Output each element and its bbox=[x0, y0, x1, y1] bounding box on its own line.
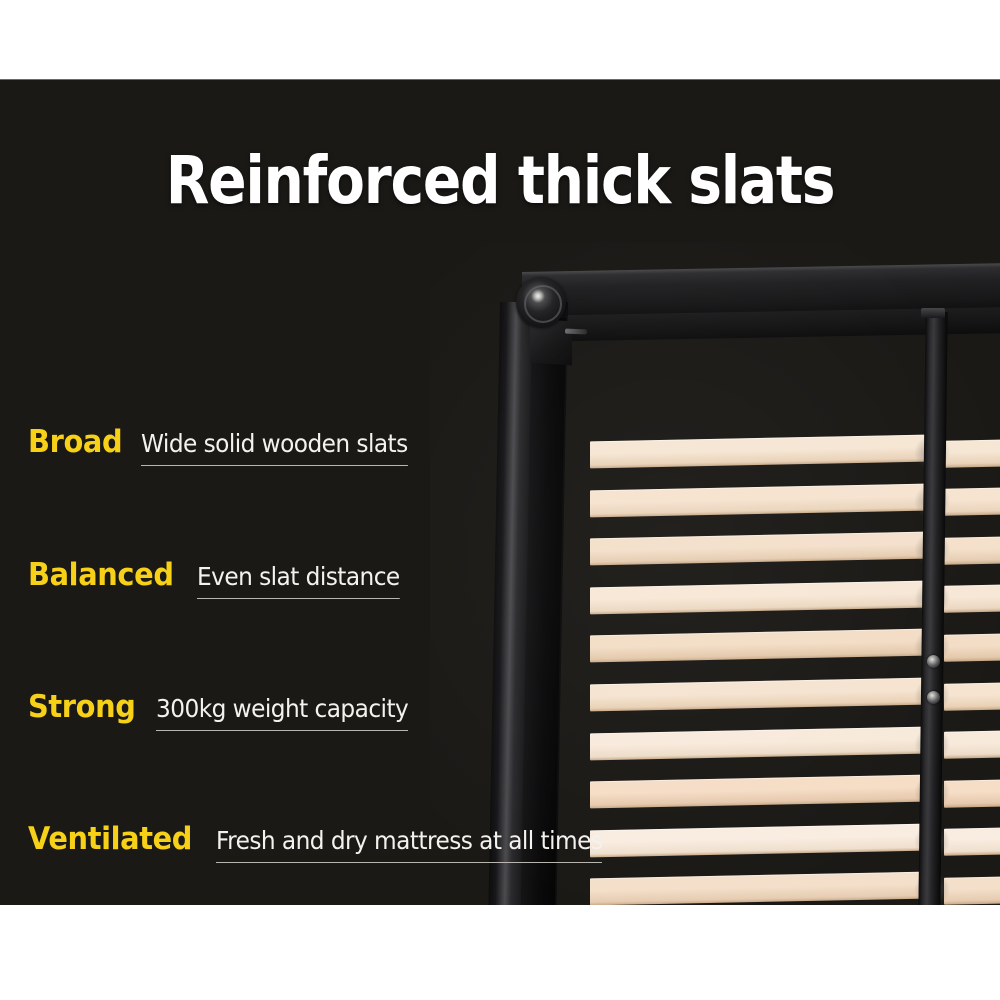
wooden-slat bbox=[590, 532, 926, 566]
beam-screw-lower bbox=[927, 691, 940, 704]
feature-key-ventilated: Ventilated bbox=[28, 821, 192, 857]
wooden-slat bbox=[590, 435, 926, 469]
wooden-slat bbox=[944, 876, 1000, 904]
page-title: Reinforced thick slats bbox=[70, 142, 930, 219]
feature-key-balanced: Balanced bbox=[28, 557, 174, 593]
feature-value-ventilated: Fresh and dry mattress at all times bbox=[216, 826, 602, 863]
feature-row-broad: Broad Wide solid wooden slats bbox=[28, 424, 428, 466]
corner-pin bbox=[565, 329, 587, 335]
wooden-slat bbox=[944, 536, 1000, 564]
wooden-slat bbox=[590, 678, 926, 712]
feature-key-broad: Broad bbox=[28, 424, 122, 460]
wooden-slat bbox=[590, 580, 926, 614]
wooden-slat bbox=[944, 828, 1000, 856]
product-feature-banner: Reinforced thick slats Broad Wide solid … bbox=[0, 0, 1000, 1000]
feature-value-strong: 300kg weight capacity bbox=[156, 694, 408, 731]
wooden-slat bbox=[944, 585, 1000, 613]
feature-row-balanced: Balanced Even slat distance bbox=[28, 557, 415, 599]
corner-bolt-ring bbox=[524, 285, 562, 323]
center-beam-cap bbox=[921, 308, 945, 318]
wooden-slat bbox=[944, 682, 1000, 710]
wooden-slat bbox=[944, 487, 1000, 515]
wooden-slat bbox=[944, 779, 1000, 807]
center-support-beam bbox=[918, 312, 947, 905]
beam-screw-upper bbox=[927, 655, 940, 668]
wooden-slat bbox=[944, 633, 1000, 661]
panel-top-edge bbox=[0, 79, 1000, 80]
wooden-slat bbox=[590, 823, 926, 857]
wooden-slat bbox=[590, 775, 926, 809]
dark-content-panel: Reinforced thick slats Broad Wide solid … bbox=[0, 80, 1000, 905]
wooden-slat bbox=[590, 872, 926, 905]
wooden-slat bbox=[590, 629, 926, 663]
feature-row-strong: Strong 300kg weight capacity bbox=[28, 689, 427, 731]
wooden-slat bbox=[590, 726, 926, 760]
feature-key-strong: Strong bbox=[28, 689, 136, 725]
feature-row-ventilated: Ventilated Fresh and dry mattress at all… bbox=[28, 821, 632, 863]
feature-value-broad: Wide solid wooden slats bbox=[141, 429, 408, 466]
wooden-slat bbox=[590, 483, 926, 517]
feature-value-balanced: Even slat distance bbox=[197, 562, 400, 599]
wooden-slat bbox=[944, 730, 1000, 758]
bottom-white-band bbox=[0, 905, 1000, 1000]
bed-frame-photo bbox=[470, 272, 1000, 905]
top-white-band bbox=[0, 0, 1000, 80]
wooden-slat bbox=[944, 439, 1000, 467]
